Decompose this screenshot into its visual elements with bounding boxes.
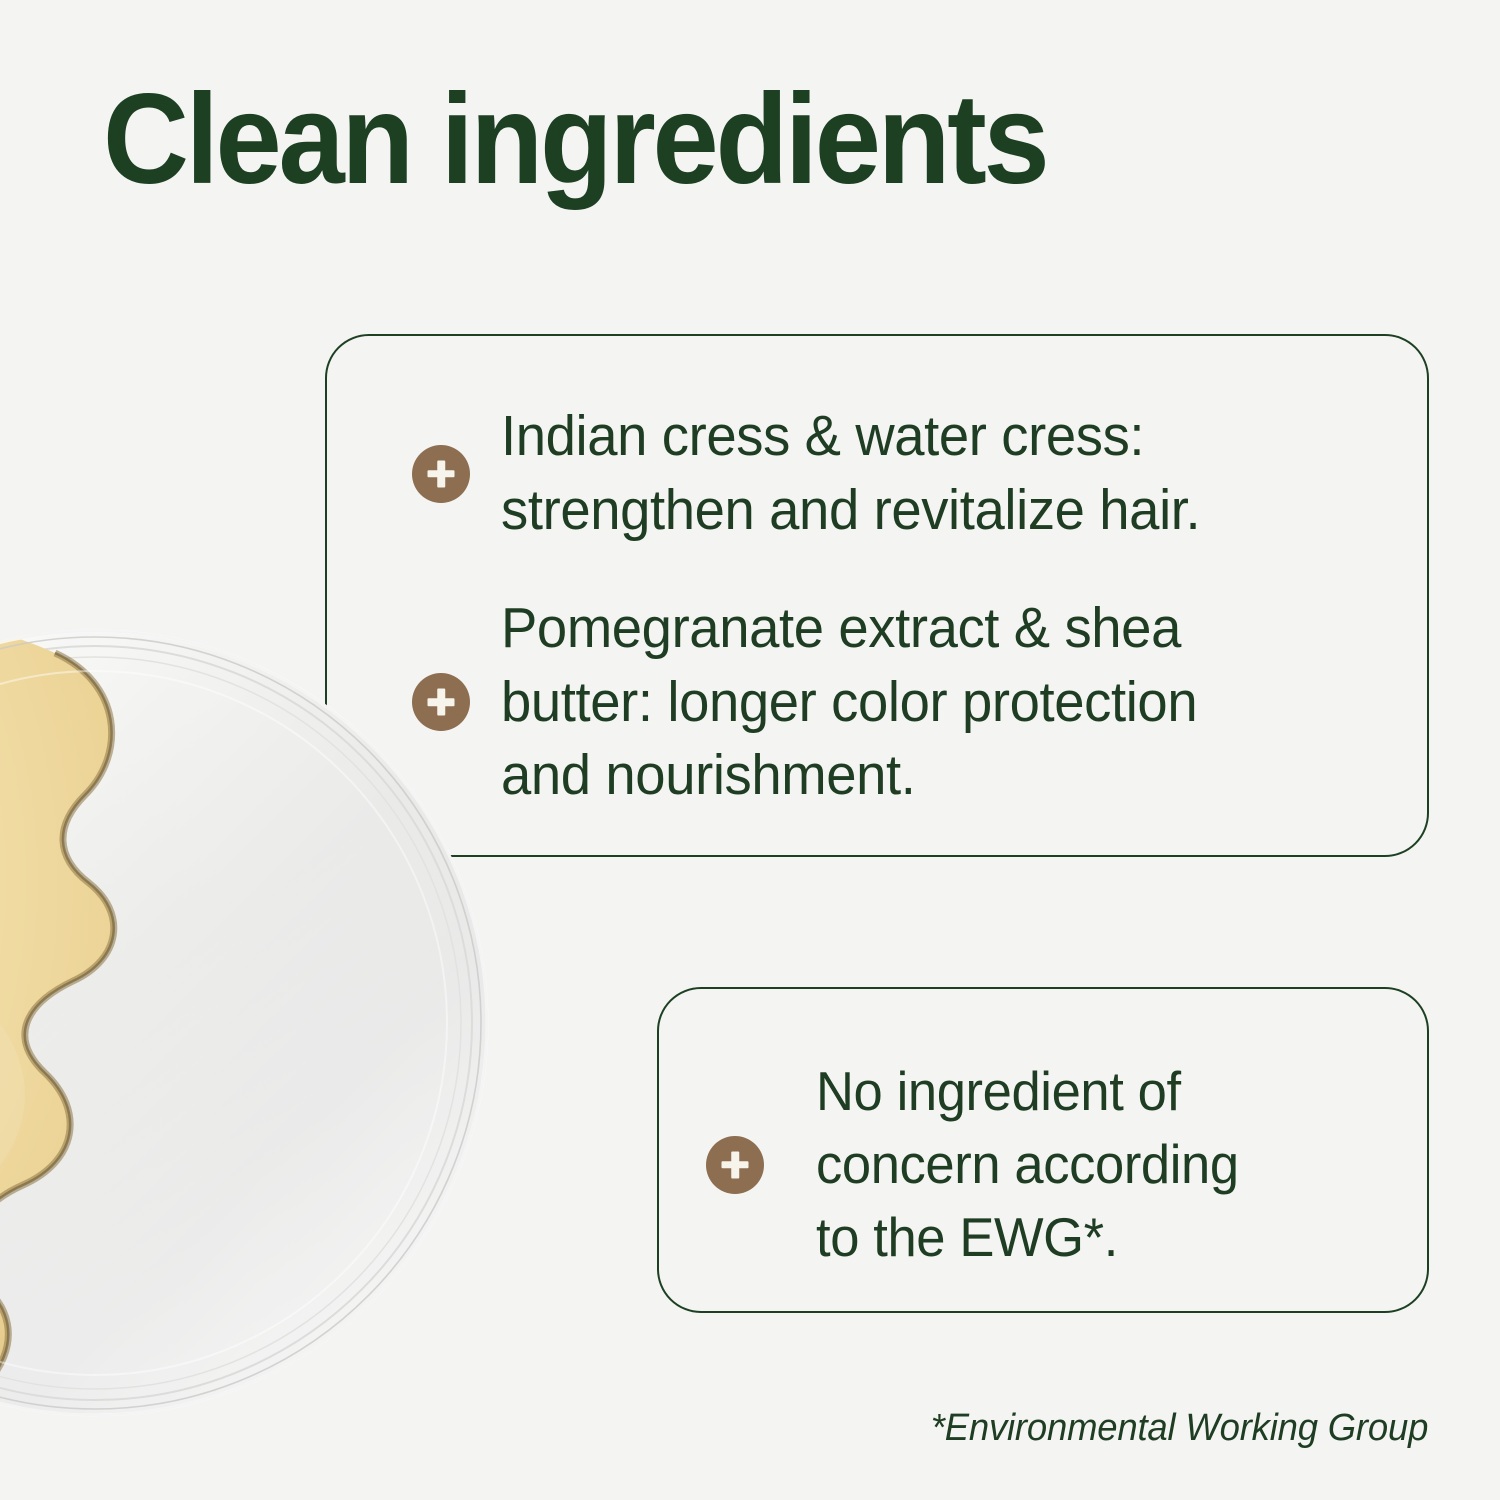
bullet-text: Indian cress & water cress: strengthen a… — [501, 400, 1200, 547]
infographic-canvas: Clean ingredients — [0, 0, 1500, 1500]
bullet-pomegranate-shea: Pomegranate extract & shea butter: longe… — [412, 592, 1412, 813]
plus-icon — [706, 1136, 764, 1194]
bullet-text: Pomegranate extract & shea butter: longe… — [501, 592, 1197, 813]
page-title: Clean ingredients — [103, 76, 1173, 204]
plus-icon — [412, 445, 470, 503]
plus-icon — [412, 673, 470, 731]
bullet-indian-cress: Indian cress & water cress: strengthen a… — [412, 400, 1412, 547]
bullet-text: No ingredient of concern according to th… — [816, 1055, 1239, 1274]
bullet-ewg: No ingredient of concern according to th… — [706, 1055, 1406, 1274]
footnote: *Environmental Working Group — [931, 1407, 1428, 1450]
